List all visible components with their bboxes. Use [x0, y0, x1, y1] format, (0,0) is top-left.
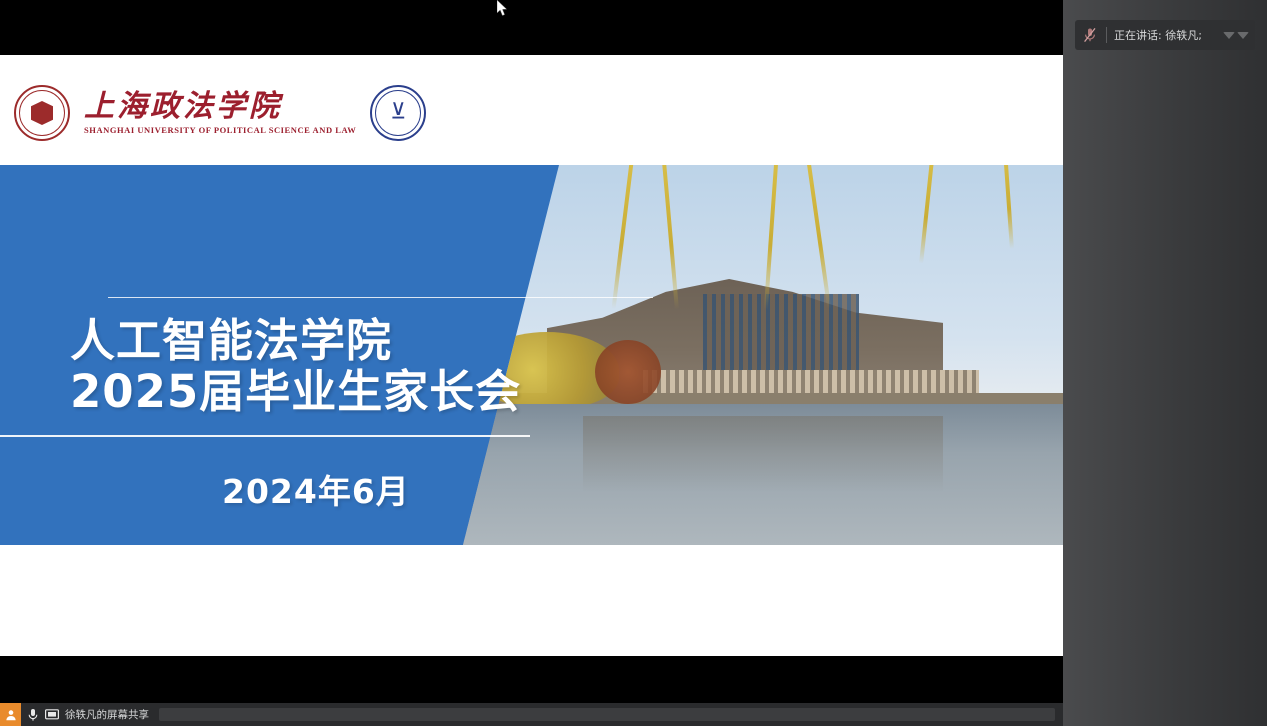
status-bar-track[interactable] [159, 708, 1055, 721]
campus-lakeside-building-photo [463, 165, 1063, 545]
slide-title-line-1: 人工智能法学院 [70, 315, 521, 366]
university-red-seal-icon [14, 85, 70, 141]
screen-share-status-text: 徐轶凡的屏幕共享 [65, 707, 149, 722]
university-name-en: SHANGHAI UNIVERSITY OF POLITICAL SCIENCE… [84, 125, 356, 135]
participant-avatar-icon [0, 703, 21, 726]
status-bar-icons [27, 708, 59, 722]
title-rule-bottom [0, 435, 530, 437]
slide-title: 人工智能法学院 2025届毕业生家长会 [70, 315, 521, 418]
title-rule-top [108, 297, 653, 298]
slide-banner: 人工智能法学院 2025届毕业生家长会 2024年6月 [0, 165, 1063, 545]
active-speaker-banner[interactable]: 正在讲话: 徐轶凡; [1075, 20, 1255, 50]
active-speaker-text: 正在讲话: 徐轶凡; [1114, 27, 1223, 43]
university-logo: 上海政法学院 SHANGHAI UNIVERSITY OF POLITICAL … [14, 80, 426, 146]
banner-divider [1106, 27, 1107, 43]
university-name-cn: 上海政法学院 [84, 91, 356, 123]
screen-share-status-bar[interactable]: 徐轶凡的屏幕共享 [0, 703, 1063, 726]
university-blue-emblem-icon: ⊻ [370, 85, 426, 141]
meeting-sidebar: 正在讲话: 徐轶凡; [1063, 0, 1267, 726]
slide-subtitle-date: 2024年6月 [222, 465, 410, 513]
presentation-slide: 上海政法学院 SHANGHAI UNIVERSITY OF POLITICAL … [0, 55, 1063, 656]
collapse-chevrons-icon[interactable] [1223, 28, 1249, 42]
screen-share-icon[interactable] [45, 709, 59, 721]
mouse-pointer-icon [497, 0, 509, 18]
speaking-mic-icon [1081, 26, 1099, 44]
slide-title-line-2: 2025届毕业生家长会 [70, 366, 521, 417]
emblem-glyph: ⊻ [385, 102, 411, 124]
shared-screen-region[interactable]: 上海政法学院 SHANGHAI UNIVERSITY OF POLITICAL … [0, 0, 1063, 726]
mic-icon[interactable] [27, 708, 39, 722]
university-logo-text: 上海政法学院 SHANGHAI UNIVERSITY OF POLITICAL … [84, 91, 356, 136]
